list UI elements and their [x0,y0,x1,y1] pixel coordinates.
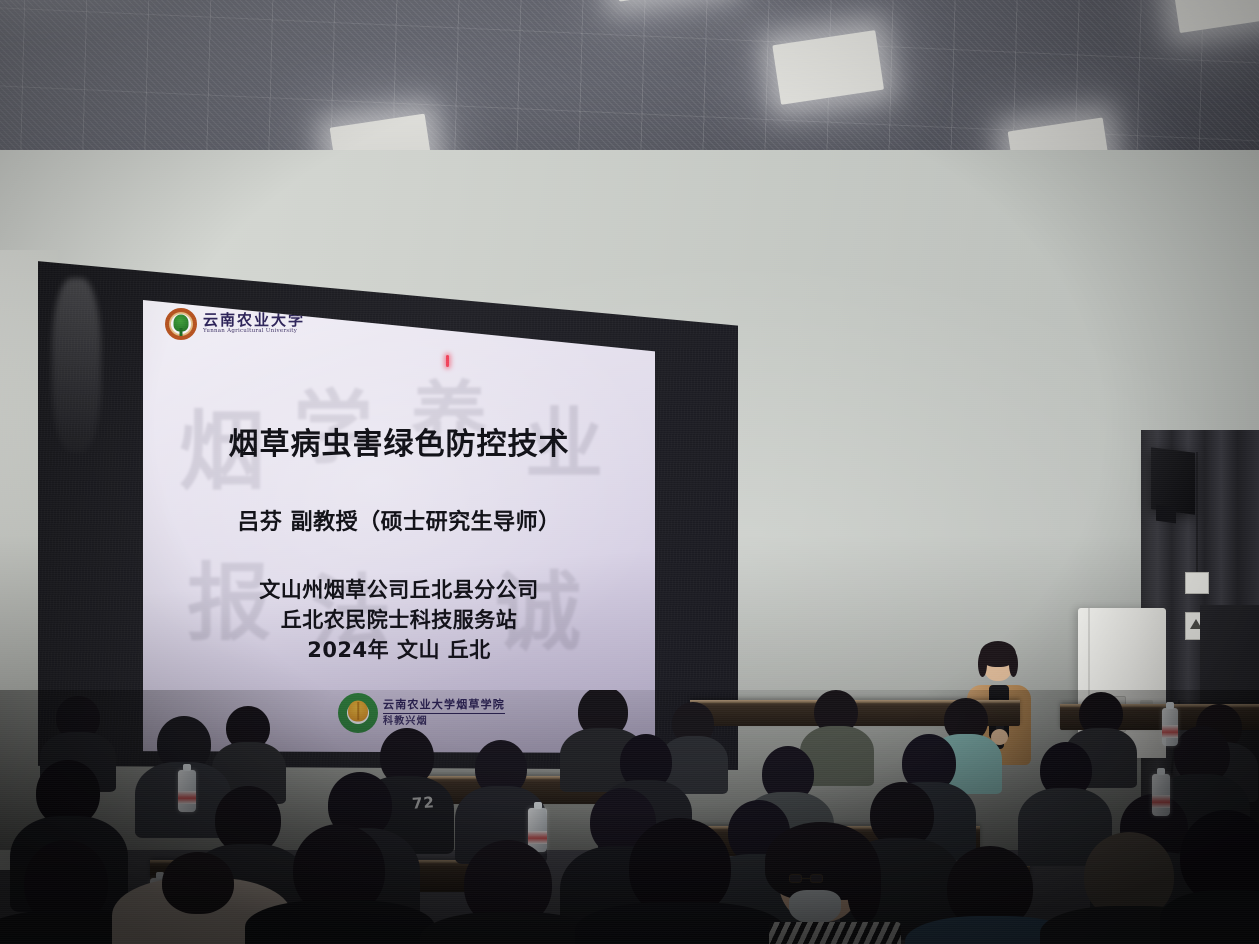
water-bottle [1162,708,1178,746]
jacket-graphic: 72 [411,793,435,813]
audience-member [245,824,435,944]
torso [1160,890,1259,944]
audience-member [1160,810,1259,944]
woman-with-glasses [755,830,920,944]
audience-area: 72 [0,690,1259,944]
hair-side [847,844,881,922]
wall-notice-sign [1185,572,1209,594]
speaker-mount-bracket [1156,505,1176,524]
torso [420,912,600,944]
striped-scarf [769,922,901,944]
torso [245,900,435,944]
lecture-hall-photo: 烟 学 养 业 报 法 诚 云南农业大学 Yunnan Agricultural… [0,0,1259,944]
presenter-hair-side [1009,651,1018,677]
eyeglasses [789,874,823,883]
presenter-hair-side [978,651,987,677]
wall-cable [1196,452,1198,572]
board-glare [52,278,101,452]
head [162,852,234,914]
torso [575,902,785,944]
water-bottle [178,770,196,812]
audience-member [420,840,600,944]
projected-slide: 烟 学 养 业 报 法 诚 云南农业大学 Yunnan Agricultural… [143,286,655,753]
audience-member [575,818,785,944]
face-mask [789,890,841,924]
slide-falloff [143,286,655,753]
